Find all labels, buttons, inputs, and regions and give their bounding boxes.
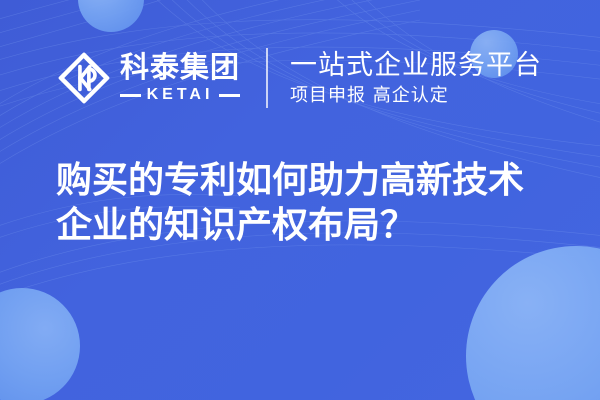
brand-logo[interactable]: 科泰集团 KETAI [58,52,240,104]
tagline-secondary: 项目申报 高企认定 [290,86,542,106]
logo-dash-right-icon [219,94,240,97]
decorative-circle-left-icon [0,288,80,400]
tagline-primary: 一站式企业服务平台 [290,51,542,80]
promo-banner: 科泰集团 KETAI 一站式企业服务平台 项目申报 高企认定 购买的专利如何助力… [0,0,600,400]
decorative-circle-top-icon [78,0,144,32]
banner-header: 科泰集团 KETAI 一站式企业服务平台 项目申报 高企认定 [0,40,600,116]
vertical-divider-icon [266,48,268,108]
page-title: 购买的专利如何助力高新技术企业的知识产权布局？ [56,158,556,249]
ketai-diamond-kp-monogram-icon [58,52,110,104]
logo-dash-left-icon [120,94,141,97]
brand-name-cn: 科泰集团 [120,53,240,82]
brand-wordmark: 科泰集团 KETAI [120,53,240,103]
tagline-block: 一站式企业服务平台 项目申报 高企认定 [290,51,542,106]
brand-name-en-row: KETAI [120,87,240,103]
brand-name-en: KETAI [147,87,214,103]
decorative-circle-right-icon [466,246,600,400]
